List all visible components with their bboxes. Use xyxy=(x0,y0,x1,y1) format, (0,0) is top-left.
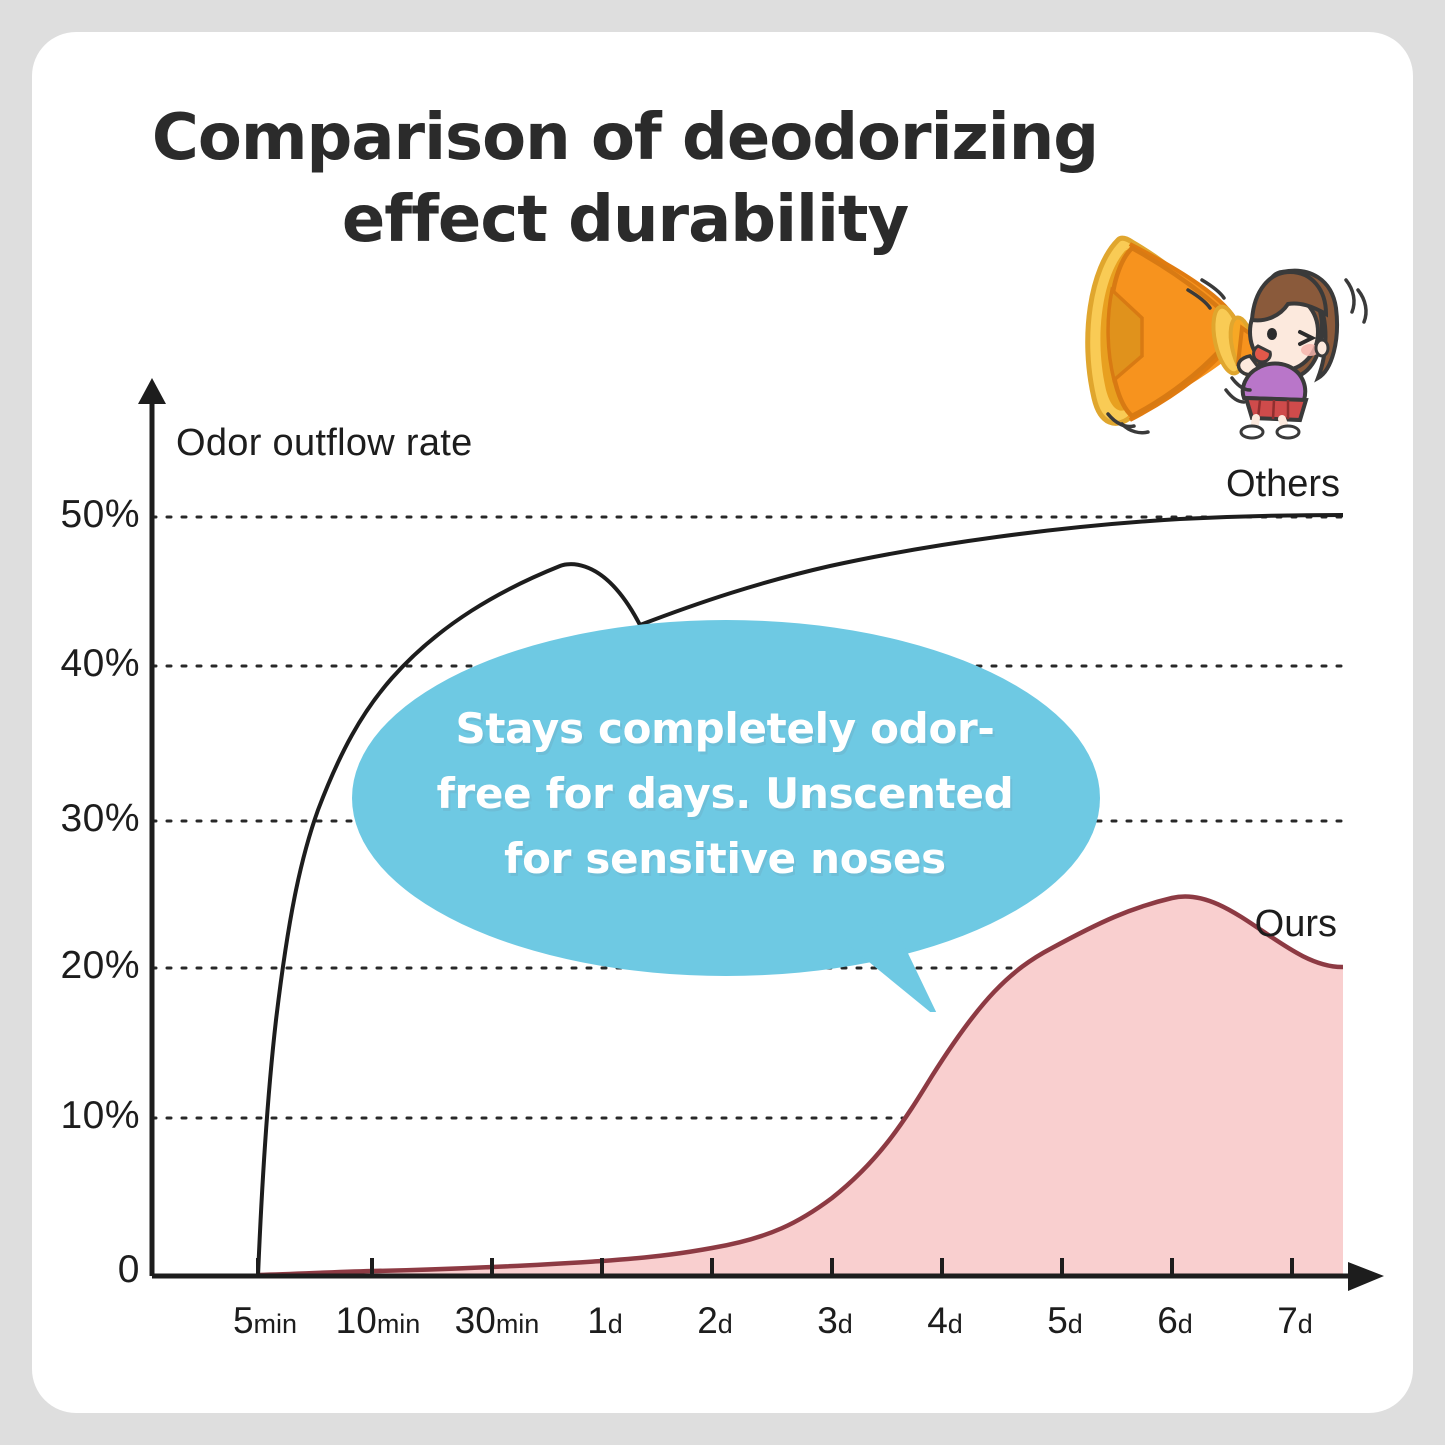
x-tick-unit: min xyxy=(254,1309,298,1339)
girl-ear xyxy=(1316,340,1328,356)
x-tick-unit: d xyxy=(718,1309,733,1339)
x-tick-num: 30 xyxy=(455,1300,496,1341)
x-tick-unit: min xyxy=(377,1309,421,1339)
x-tick-label-6d: 6d xyxy=(1157,1300,1193,1342)
x-tick-unit: min xyxy=(496,1309,540,1339)
page-root: Comparison of deodorizing effect durabil… xyxy=(0,0,1445,1445)
x-tick-num: 7 xyxy=(1277,1300,1298,1341)
x-tick-unit: d xyxy=(838,1309,853,1339)
girl-shoe-left xyxy=(1241,426,1263,438)
x-tick-num: 1 xyxy=(587,1300,608,1341)
x-tick-num: 6 xyxy=(1157,1300,1178,1341)
y-tick-label-20: 20% xyxy=(60,944,140,988)
callout-speech-bubble: Stays completely odor-free for days. Uns… xyxy=(352,620,1100,1012)
chart-container: Odor outflow rate 50% 40% 30% 20% 10% 0 xyxy=(32,32,1413,1413)
girl-with-megaphone-icon xyxy=(1060,228,1382,440)
x-tick-num: 3 xyxy=(817,1300,838,1341)
x-tick-label-2d: 2d xyxy=(697,1300,733,1342)
callout-text: Stays completely odor-free for days. Uns… xyxy=(410,696,1040,891)
content-card: Comparison of deodorizing effect durabil… xyxy=(32,32,1413,1413)
series-label-ours: Ours xyxy=(1255,903,1337,946)
x-tick-num: 5 xyxy=(1047,1300,1068,1341)
x-tick-label-10min: 10min xyxy=(336,1300,421,1342)
x-tick-label-1d: 1d xyxy=(587,1300,623,1342)
x-tick-num: 4 xyxy=(927,1300,948,1341)
y-tick-label-0: 0 xyxy=(118,1248,140,1292)
girl-shoe-right xyxy=(1277,426,1299,438)
x-tick-num: 10 xyxy=(336,1300,377,1341)
x-tick-label-7d: 7d xyxy=(1277,1300,1313,1342)
x-tick-unit: d xyxy=(948,1309,963,1339)
y-axis-title: Odor outflow rate xyxy=(176,422,473,465)
motion-lines-right xyxy=(1346,280,1366,322)
x-tick-unit: d xyxy=(1298,1309,1313,1339)
x-tick-num: 5 xyxy=(233,1300,254,1341)
x-tick-unit: d xyxy=(608,1309,623,1339)
x-tick-label-5d: 5d xyxy=(1047,1300,1083,1342)
series-label-others: Others xyxy=(1226,463,1340,506)
x-axis-arrow xyxy=(1348,1262,1384,1291)
x-tick-label-3d: 3d xyxy=(817,1300,853,1342)
x-tick-unit: d xyxy=(1178,1309,1193,1339)
x-tick-label-4d: 4d xyxy=(927,1300,963,1342)
y-axis-arrow xyxy=(138,378,166,404)
y-tick-label-30: 30% xyxy=(60,797,140,841)
x-tick-num: 2 xyxy=(697,1300,718,1341)
girl-eye-left xyxy=(1267,328,1277,340)
x-tick-unit: d xyxy=(1068,1309,1083,1339)
x-tick-label-5min: 5min xyxy=(233,1300,297,1342)
y-tick-label-40: 40% xyxy=(60,642,140,686)
y-tick-label-50: 50% xyxy=(60,493,140,537)
y-tick-label-10: 10% xyxy=(60,1094,140,1138)
x-tick-label-30min: 30min xyxy=(455,1300,540,1342)
